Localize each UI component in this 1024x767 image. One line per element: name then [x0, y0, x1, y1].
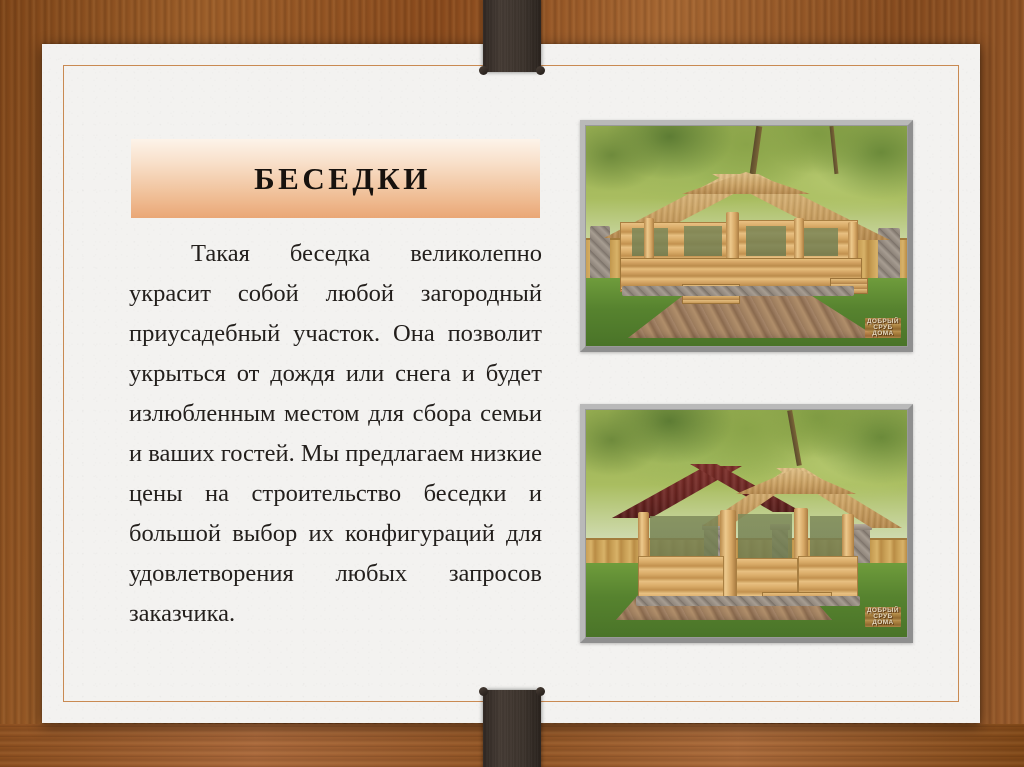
photo-watermark: ДОБРЫЙ СРУБ ДОМА — [865, 318, 901, 338]
strap-foot-right-icon — [536, 66, 545, 75]
page-title: БЕСЕДКИ — [240, 161, 431, 197]
photo-gazebo-shingle-roof: ДОБРЫЙ СРУБ ДОМА — [580, 120, 913, 352]
strap-foot-left-icon — [479, 66, 488, 75]
presentation-slide: БЕСЕДКИ Такая беседка великолепно украси… — [0, 0, 1024, 767]
gazebo-open-bay — [738, 514, 792, 560]
gazebo-window-opening — [684, 226, 722, 256]
gazebo-scene-top: ДОБРЫЙ СРУБ ДОМА — [586, 126, 907, 346]
gazebo-log-parapet-left — [638, 556, 724, 600]
gazebo-open-bay — [650, 516, 718, 558]
photo-inner-border: ДОБРЫЙ СРУБ ДОМА — [585, 125, 908, 347]
slide-title-box: БЕСЕДКИ — [131, 139, 540, 218]
gazebo-scene-bottom: ДОБРЫЙ СРУБ ДОМА — [586, 410, 907, 637]
photo-gazebo-red-roof: ДОБРЫЙ СРУБ ДОМА — [580, 404, 913, 643]
gazebo-stone-foundation — [622, 286, 854, 296]
gazebo-open-bay — [810, 516, 842, 558]
photo-watermark: ДОБРЫЙ СРУБ ДОМА — [865, 607, 901, 627]
photo-inner-border: ДОБРЫЙ СРУБ ДОМА — [585, 409, 908, 638]
binder-strap-top — [483, 0, 541, 72]
binder-strap-bottom — [483, 690, 541, 767]
strap-foot-right-icon — [536, 687, 545, 696]
gazebo-window-opening — [746, 226, 786, 256]
slide-body-text: Такая беседка великолепно украсит собой … — [129, 234, 542, 634]
gazebo-stone-foundation — [636, 596, 860, 606]
gazebo-window-opening — [800, 228, 838, 256]
strap-foot-left-icon — [479, 687, 488, 696]
